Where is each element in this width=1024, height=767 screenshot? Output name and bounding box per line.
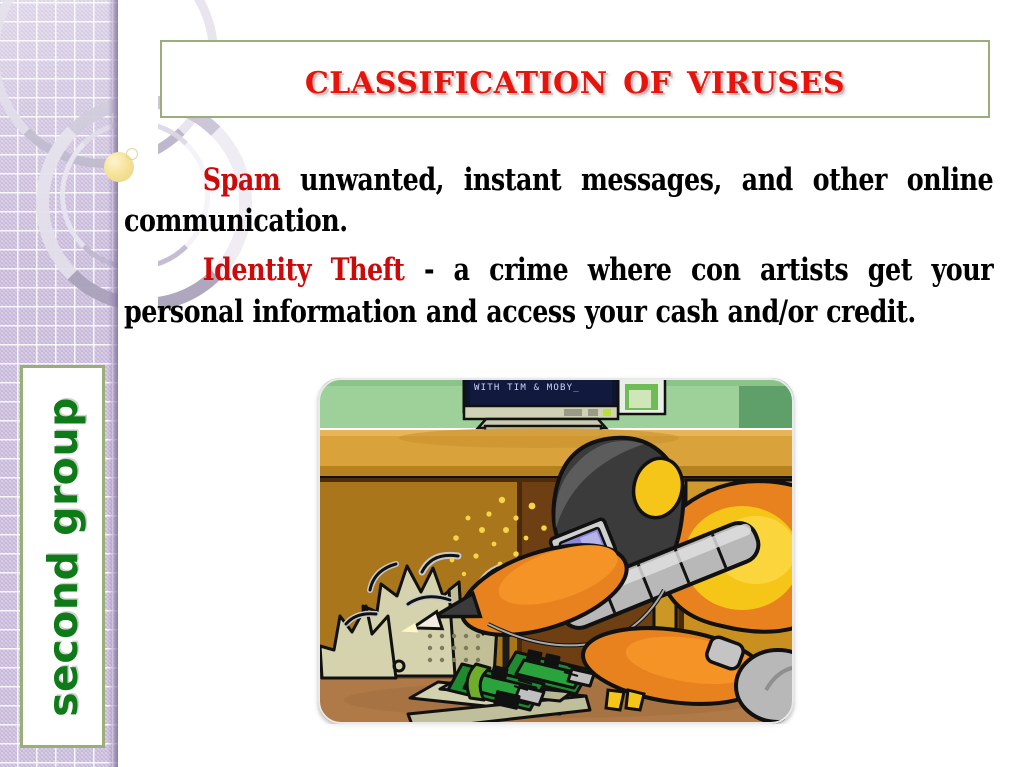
- body-text: Spam unwanted, instant messages, and oth…: [124, 160, 1000, 341]
- page-title: Classification of Viruses: [305, 54, 845, 104]
- small-ring-icon: [126, 148, 138, 160]
- keyword-spam: Spam: [203, 162, 281, 198]
- paragraph-identity-theft: Identity Theft - a crime where con artis…: [124, 250, 993, 332]
- band-right-edge: [108, 0, 118, 767]
- illustration-reflection: [318, 724, 794, 766]
- band-highlight: [0, 0, 118, 260]
- keyword-identity-theft: Identity Theft: [203, 252, 405, 288]
- band-right-mask: [118, 0, 158, 767]
- title-box: Classification of Viruses: [160, 40, 990, 118]
- illustration: WITH TIM & MOBY_: [318, 378, 794, 724]
- reflection-fade: [318, 724, 794, 766]
- side-label-box: second group: [20, 365, 105, 748]
- slide: second group Classification of Viruses S…: [0, 0, 1024, 767]
- illustration-frame: WITH TIM & MOBY_: [318, 378, 794, 724]
- paragraph-spam: Spam unwanted, instant messages, and oth…: [124, 160, 993, 242]
- robot-cutting-computer-illustration: WITH TIM & MOBY_: [318, 378, 794, 724]
- side-label-text: second group: [39, 397, 87, 717]
